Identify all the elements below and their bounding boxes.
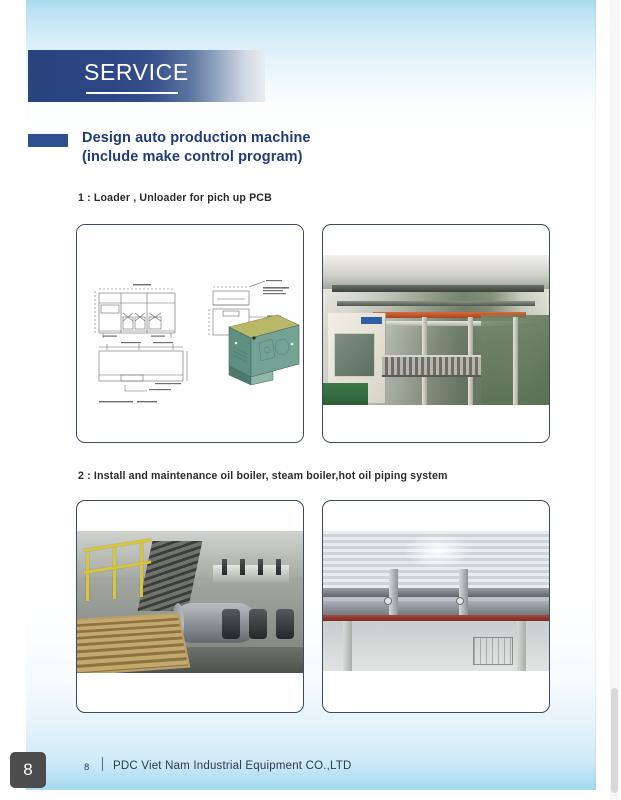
photo-riser-2: [459, 569, 468, 615]
photo-column-2: [517, 621, 526, 671]
banner-underline: [86, 92, 178, 94]
photo-handrail-post-2: [113, 547, 116, 599]
photo-cabinet-window: [334, 333, 375, 377]
photo-valve-2: [240, 559, 245, 575]
footer-separator: [102, 757, 103, 771]
scrollbar-track[interactable]: [610, 0, 619, 800]
banner-title: SERVICE: [84, 59, 189, 86]
boiler-photo-image: [77, 531, 303, 673]
photo-pump-2: [249, 609, 267, 639]
scrollbar-thumb[interactable]: [611, 688, 618, 793]
photo-valve-4: [276, 559, 281, 575]
caption-item-2: 2 : Install and maintenance oil boiler, …: [78, 470, 448, 482]
photo-warehouse-floor: [323, 621, 549, 671]
photo-roller-conveyor: [382, 355, 481, 377]
photo-green-floor: [323, 383, 368, 405]
photo-handrail-post-1: [86, 553, 89, 601]
heading-line-2: (include make control program): [82, 148, 311, 167]
photo-pressure-gauge-1: [384, 597, 392, 605]
heading-text: Design auto production machine (include …: [82, 129, 311, 167]
machine-photo-image: [323, 255, 549, 405]
slide-page: SERVICE Design auto production machine (…: [26, 0, 596, 790]
image-panel-cad-drawing[interactable]: [76, 224, 304, 443]
cad-drawing-image: [77, 225, 303, 442]
cad-drawing-svg: [77, 225, 304, 443]
photo-post-3: [513, 317, 518, 405]
heading-line-1: Design auto production machine: [82, 129, 311, 148]
piping-photo-image: [323, 531, 549, 671]
photo-light-glare: [404, 533, 472, 569]
photo-boiler-drum: [174, 603, 255, 643]
image-panel-boiler-photo[interactable]: [76, 500, 304, 713]
photo-hmi-panel: [361, 317, 381, 324]
photo-wooden-pallet: [77, 613, 191, 673]
footer-page-number: 8: [84, 762, 89, 773]
image-panel-machine-photo[interactable]: [322, 224, 550, 443]
image-panel-piping-photo[interactable]: [322, 500, 550, 713]
photo-handrail-post-3: [140, 541, 143, 597]
photo-column-1: [343, 621, 352, 671]
photo-riser-1: [389, 569, 398, 615]
caption-item-1: 1 : Loader , Unloader for pich up PCB: [78, 192, 272, 204]
photo-equipment-cage: [473, 637, 513, 665]
photo-valve-1: [222, 559, 227, 575]
photo-ceiling: [323, 255, 549, 289]
photo-duct: [323, 601, 549, 615]
photo-roof-beam: [323, 588, 549, 597]
photo-valve-3: [258, 559, 263, 575]
photo-pump-3: [276, 609, 294, 639]
photo-overhead-beam: [332, 285, 544, 292]
photo-pump-1: [222, 609, 240, 639]
photo-overhead-beam-secondary: [337, 301, 536, 306]
page-number-badge: 8: [10, 752, 46, 788]
pdf-viewer: SERVICE Design auto production machine (…: [0, 0, 621, 800]
heading-bullet-icon: [28, 134, 68, 147]
footer-company-name: PDC Viet Nam Industrial Equipment CO.,LT…: [113, 760, 352, 772]
service-banner: SERVICE: [28, 50, 265, 102]
isometric-model: [229, 315, 299, 385]
